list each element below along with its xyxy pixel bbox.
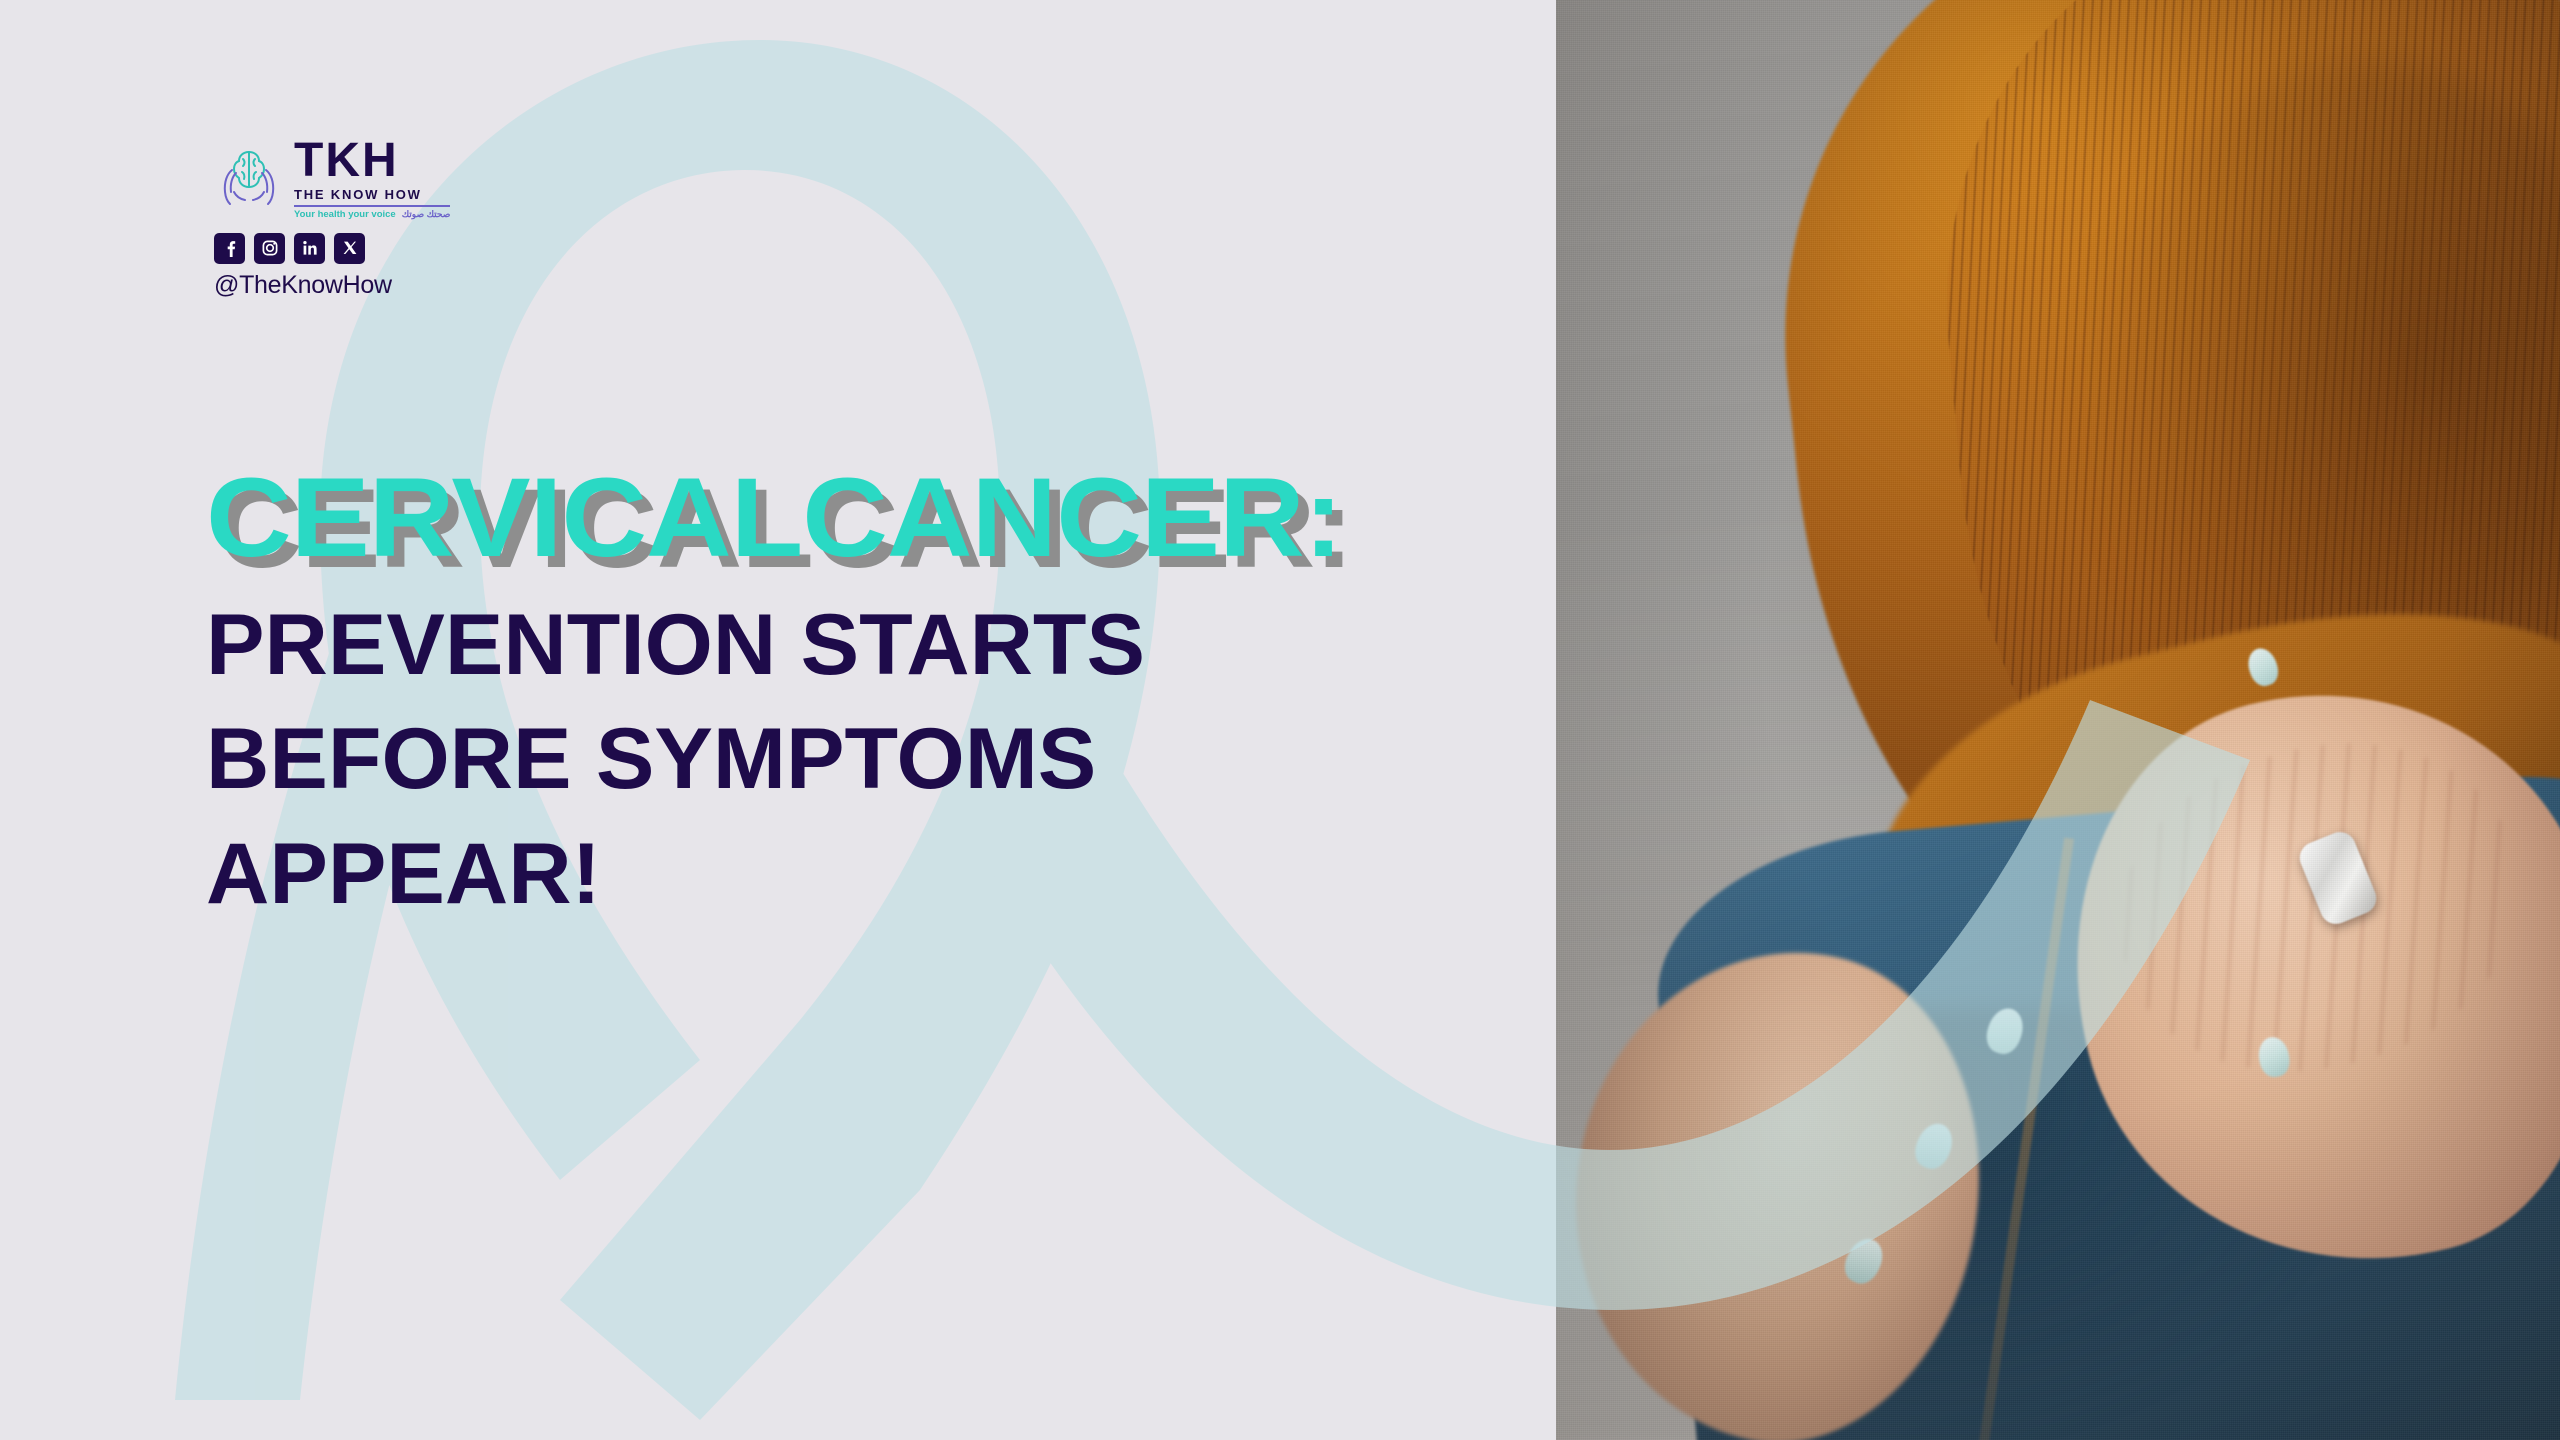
facebook-icon[interactable]: [214, 233, 245, 264]
x-twitter-icon[interactable]: [334, 233, 365, 264]
brain-in-hands-icon: [212, 140, 286, 214]
logo-tagline-ar: صحتك صوتك: [402, 209, 451, 220]
hero-photo: [1556, 0, 2560, 1440]
logo-wordmark-group: TKH THE KNOW HOW Your health your voice …: [294, 138, 450, 220]
logo-wordmark: TKH: [294, 138, 450, 184]
logo-tagline-en: Your health your voice: [294, 209, 396, 220]
subheadline-line-3: APPEAR!: [206, 817, 1512, 931]
linkedin-icon[interactable]: [294, 233, 325, 264]
headline-block: CERVICALCANCER: PREVENTION STARTS BEFORE…: [206, 462, 1486, 931]
instagram-icon[interactable]: [254, 233, 285, 264]
social-icon-row[interactable]: [214, 233, 532, 264]
logo-subtitle: THE KNOW HOW: [294, 187, 450, 202]
brand-logo-block[interactable]: TKH THE KNOW HOW Your health your voice …: [212, 138, 532, 300]
subheadline-line-2: BEFORE SYMPTOMS: [206, 702, 1512, 816]
logo-divider: [294, 205, 450, 207]
logo-lockup: TKH THE KNOW HOW Your health your voice …: [212, 138, 532, 220]
subheadline-line-1: PREVENTION STARTS: [206, 588, 1512, 702]
logo-tagline: Your health your voice صحتك صوتك: [294, 209, 450, 220]
page-title: CERVICALCANCER:: [206, 462, 1563, 574]
social-handle[interactable]: @TheKnowHow: [214, 271, 532, 300]
poster-canvas: TKH THE KNOW HOW Your health your voice …: [0, 0, 2560, 1440]
